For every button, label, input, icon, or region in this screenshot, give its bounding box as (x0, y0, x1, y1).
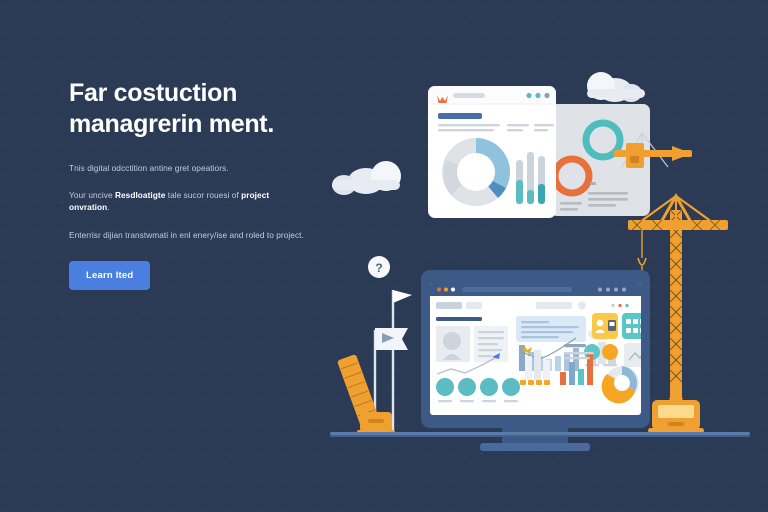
hero-section: Far costuction managrerin ment. Tnis dig… (0, 0, 768, 512)
desktop-monitor-dashboard (421, 270, 654, 451)
cloud-icon-right (587, 72, 645, 102)
browser-window-card (428, 86, 556, 218)
card-heading-bar (438, 113, 482, 119)
monitor-window-dots (437, 288, 455, 292)
learn-more-button[interactable]: Learn Ited (69, 261, 150, 290)
paragraph-3-text: Enterrisr dijian transtwmati in enl ener… (69, 230, 304, 240)
paragraph-2-bold-a: Resdloatigte (115, 190, 165, 200)
dashboard-tab-active[interactable] (436, 302, 462, 309)
browser-url-pill (453, 93, 485, 98)
hero-copy: Far costuction managrerin ment. Tnis dig… (69, 78, 304, 290)
dashboard-status-dots (611, 304, 628, 307)
orange-badge (602, 344, 618, 360)
paragraph-1-text: Tnis digital odcctition antine gret opea… (69, 163, 229, 173)
hero-paragraph-2: Your uncive Resdloatigte tale sucor roue… (69, 189, 304, 214)
paragraph-2-text-b: tale sucor rouesi of (165, 190, 241, 200)
page-title: Far costuction managrerin ment. (69, 78, 304, 140)
construction-cart (357, 412, 395, 434)
svg-text:?: ? (375, 261, 382, 275)
donut-chart (442, 138, 510, 206)
monitor-url-pill (462, 287, 572, 292)
ground-line (330, 432, 750, 437)
dashboard-search[interactable] (536, 302, 572, 309)
hero-paragraph-3: Enterrisr dijian transtwmati in enl ener… (69, 229, 304, 242)
hero-paragraph-1: Tnis digital odcctition antine gret opea… (69, 162, 304, 175)
question-mark-badge: ? (368, 256, 390, 278)
monitor-base (480, 443, 590, 451)
tall-flag (393, 290, 412, 432)
panel-heading-bar (436, 317, 482, 321)
dashboard-tab[interactable] (466, 302, 482, 309)
dashboard-avatar[interactable] (578, 302, 586, 310)
paragraph-2-text-a: Your uncive (69, 190, 115, 200)
browser-dots (526, 93, 549, 98)
cloud-icon-left (332, 161, 401, 195)
paragraph-2-text-c: . (107, 202, 109, 212)
hero-illustration: ? (320, 0, 768, 512)
